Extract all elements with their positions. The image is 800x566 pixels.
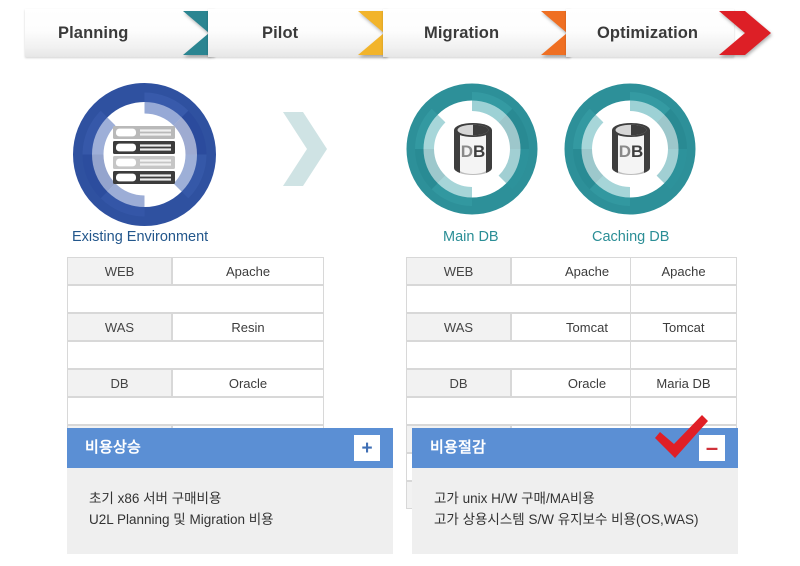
- database-icon: DB: [454, 123, 492, 175]
- node-caching-db[interactable]: DB: [563, 82, 697, 216]
- row-spacer: [406, 397, 663, 425]
- node-label-main-db: Main DB: [443, 229, 499, 245]
- table-row: WEBApache: [406, 257, 663, 285]
- row-spacer: [406, 341, 663, 369]
- table-row: DBOracle: [406, 369, 663, 397]
- panel-body-cost-increase: 초기 x86 서버 구매비용 U2L Planning 및 Migration …: [67, 468, 393, 554]
- row-spacer: [630, 285, 737, 313]
- phase-header: Planning Pilot Migration Optimization: [25, 9, 775, 57]
- panel-line: U2L Planning 및 Migration 비용: [89, 509, 393, 530]
- panel-cost-saving: 비용절감 – 고가 unix H/W 구매/MA비용 고가 상용시스템 S/W …: [412, 428, 738, 554]
- row-spacer: [67, 397, 324, 425]
- row-spacer: [406, 285, 663, 313]
- spec-key: DB: [406, 369, 511, 397]
- chevron-right-icon-optimization: [719, 9, 775, 57]
- spec-value: Resin: [172, 313, 324, 341]
- table-row: WASTomcat: [406, 313, 663, 341]
- panel-title-cost-saving: 비용절감: [430, 428, 486, 468]
- node-existing-environment[interactable]: [72, 82, 217, 227]
- svg-text:DB: DB: [461, 142, 486, 161]
- spec-key: WAS: [67, 313, 172, 341]
- node-main-db[interactable]: DB: [405, 82, 539, 216]
- spec-key: WAS: [406, 313, 511, 341]
- node-label-caching-db: Caching DB: [592, 229, 669, 245]
- panel-cost-increase: 비용상승 + 초기 x86 서버 구매비용 U2L Planning 및 Mig…: [67, 428, 393, 554]
- collapse-minus-badge[interactable]: –: [699, 435, 725, 461]
- panel-header-cost-saving: 비용절감 –: [412, 428, 738, 468]
- panel-line: 고가 unix H/W 구매/MA비용: [434, 488, 738, 509]
- spec-value: Maria DB: [630, 369, 737, 397]
- table-row: WEBApache: [67, 257, 324, 285]
- table-row: WASResin: [67, 313, 324, 341]
- panel-body-cost-saving: 고가 unix H/W 구매/MA비용 고가 상용시스템 S/W 유지보수 비용…: [412, 468, 738, 554]
- node-label-existing-environment: Existing Environment: [72, 229, 208, 245]
- svg-text:DB: DB: [619, 142, 644, 161]
- spec-key: WEB: [406, 257, 511, 285]
- spec-key: WEB: [67, 257, 172, 285]
- spec-key: DB: [67, 369, 172, 397]
- panel-header-cost-increase: 비용상승 +: [67, 428, 393, 468]
- row-spacer: [67, 285, 324, 313]
- spec-value: Apache: [630, 257, 737, 285]
- chevron-right-icon-flow: [281, 110, 329, 188]
- phase-label-planning: Planning: [58, 9, 128, 57]
- table-row: Apache: [630, 257, 737, 285]
- database-icon: DB: [612, 123, 650, 175]
- panel-line: 초기 x86 서버 구매비용: [89, 488, 393, 509]
- phase-label-pilot: Pilot: [262, 9, 298, 57]
- server-rack-icon: [113, 126, 175, 184]
- panel-title-cost-increase: 비용상승: [85, 428, 141, 468]
- row-spacer: [67, 341, 324, 369]
- row-spacer: [630, 341, 737, 369]
- table-row: DBOracle: [67, 369, 324, 397]
- spec-value: Oracle: [172, 369, 324, 397]
- table-row: Tomcat: [630, 313, 737, 341]
- spec-value: Apache: [172, 257, 324, 285]
- phase-label-optimization: Optimization: [597, 9, 698, 57]
- table-row: Maria DB: [630, 369, 737, 397]
- panel-line: 고가 상용시스템 S/W 유지보수 비용(OS,WAS): [434, 509, 738, 530]
- spec-value: Tomcat: [630, 313, 737, 341]
- expand-plus-badge[interactable]: +: [354, 435, 380, 461]
- row-spacer: [630, 397, 737, 425]
- phase-label-migration: Migration: [424, 9, 499, 57]
